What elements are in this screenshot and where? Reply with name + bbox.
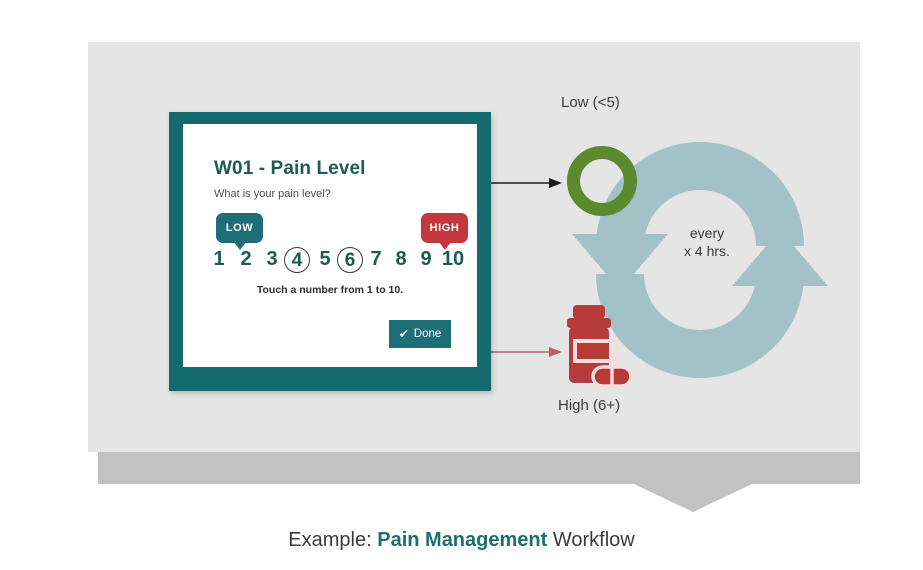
high-badge: HIGH: [421, 213, 468, 243]
low-badge-label: LOW: [226, 222, 253, 234]
touch-hint-text: Touch a number from 1 to 10.: [183, 284, 477, 296]
device-card-frame: W01 - Pain Level What is your pain level…: [169, 112, 491, 391]
caption-strong: Pain Management: [377, 529, 547, 551]
slide-caption: Example: Pain Management Workflow: [0, 529, 923, 552]
done-button[interactable]: ✔ Done: [389, 320, 451, 348]
pain-scale[interactable]: 12345678910: [208, 248, 458, 280]
high-badge-label: HIGH: [430, 222, 460, 234]
caption-suffix: Workflow: [547, 529, 634, 551]
pain-scale-number-5[interactable]: 5: [314, 248, 336, 271]
pain-scale-number-4[interactable]: 4: [284, 247, 310, 273]
pain-scale-number-2[interactable]: 2: [235, 248, 257, 271]
done-button-label: Done: [414, 328, 442, 340]
pain-scale-number-10[interactable]: 10: [438, 248, 468, 271]
check-icon: ✔: [399, 327, 409, 341]
pain-scale-number-7[interactable]: 7: [365, 248, 387, 271]
low-badge: LOW: [216, 213, 263, 243]
pain-scale-number-3[interactable]: 3: [261, 248, 283, 271]
pain-scale-number-1[interactable]: 1: [208, 248, 230, 271]
pain-scale-number-6[interactable]: 6: [337, 247, 363, 273]
caption-prefix: Example:: [288, 529, 377, 551]
card-subtitle: What is your pain level?: [214, 188, 331, 200]
pain-scale-number-8[interactable]: 8: [390, 248, 412, 271]
device-screen: W01 - Pain Level What is your pain level…: [183, 124, 477, 367]
card-title: W01 - Pain Level: [214, 158, 366, 180]
pain-scale-number-9[interactable]: 9: [415, 248, 437, 271]
